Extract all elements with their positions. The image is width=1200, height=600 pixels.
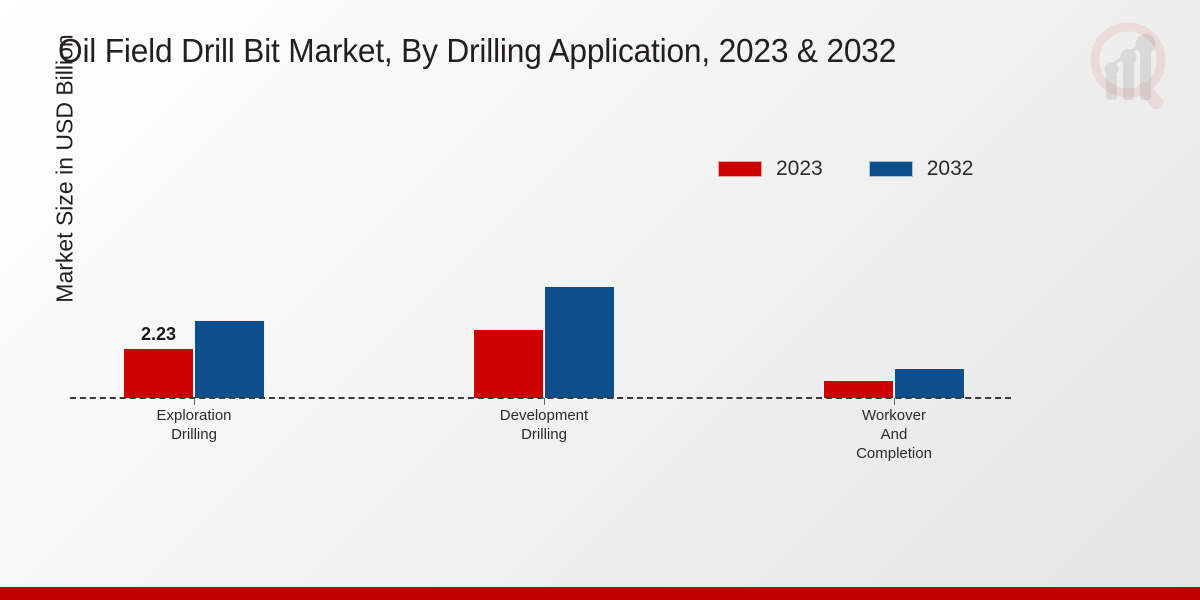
x-axis-label-line: Completion xyxy=(794,444,994,463)
x-axis-baseline xyxy=(70,397,1011,399)
bar-group-workover-and-completion xyxy=(823,120,965,398)
bar-2023-exploration-drilling[interactable]: 2.23 xyxy=(123,348,194,398)
x-axis-label-workover-and-completion: Workover And Completion xyxy=(794,406,994,463)
bar-value-label: 2.23 xyxy=(141,324,176,345)
bar-2032-development-drilling[interactable] xyxy=(544,286,615,398)
bottom-accent-band xyxy=(0,587,1200,600)
x-axis-label-line: Drilling xyxy=(94,425,294,444)
x-axis-tick-development-drilling xyxy=(544,398,545,405)
x-axis-label-line: Development xyxy=(444,406,644,425)
page-title: Oil Field Drill Bit Market, By Drilling … xyxy=(58,32,896,70)
bar-2023-workover-and-completion[interactable] xyxy=(823,380,894,398)
x-axis-label-line: And xyxy=(794,425,994,444)
bar-2032-exploration-drilling[interactable] xyxy=(194,320,265,398)
x-axis-label-development-drilling: Development Drilling xyxy=(444,406,644,444)
x-axis-label-line: Exploration xyxy=(94,406,294,425)
plot-area: 2.23 xyxy=(70,120,1010,398)
x-axis-label-line: Workover xyxy=(794,406,994,425)
bar-group-development-drilling xyxy=(473,120,615,398)
chart-canvas: Oil Field Drill Bit Market, By Drilling … xyxy=(0,0,1200,600)
x-axis-label-line: Drilling xyxy=(444,425,644,444)
bar-2023-development-drilling[interactable] xyxy=(473,329,544,398)
x-axis-tick-exploration-drilling xyxy=(194,398,195,405)
x-axis-tick-workover-and-completion xyxy=(894,398,895,405)
bar-2032-workover-and-completion[interactable] xyxy=(894,368,965,398)
watermark-logo-icon xyxy=(1078,18,1182,116)
bar-group-exploration-drilling: 2.23 xyxy=(123,120,265,398)
x-axis-label-exploration-drilling: Exploration Drilling xyxy=(94,406,294,444)
